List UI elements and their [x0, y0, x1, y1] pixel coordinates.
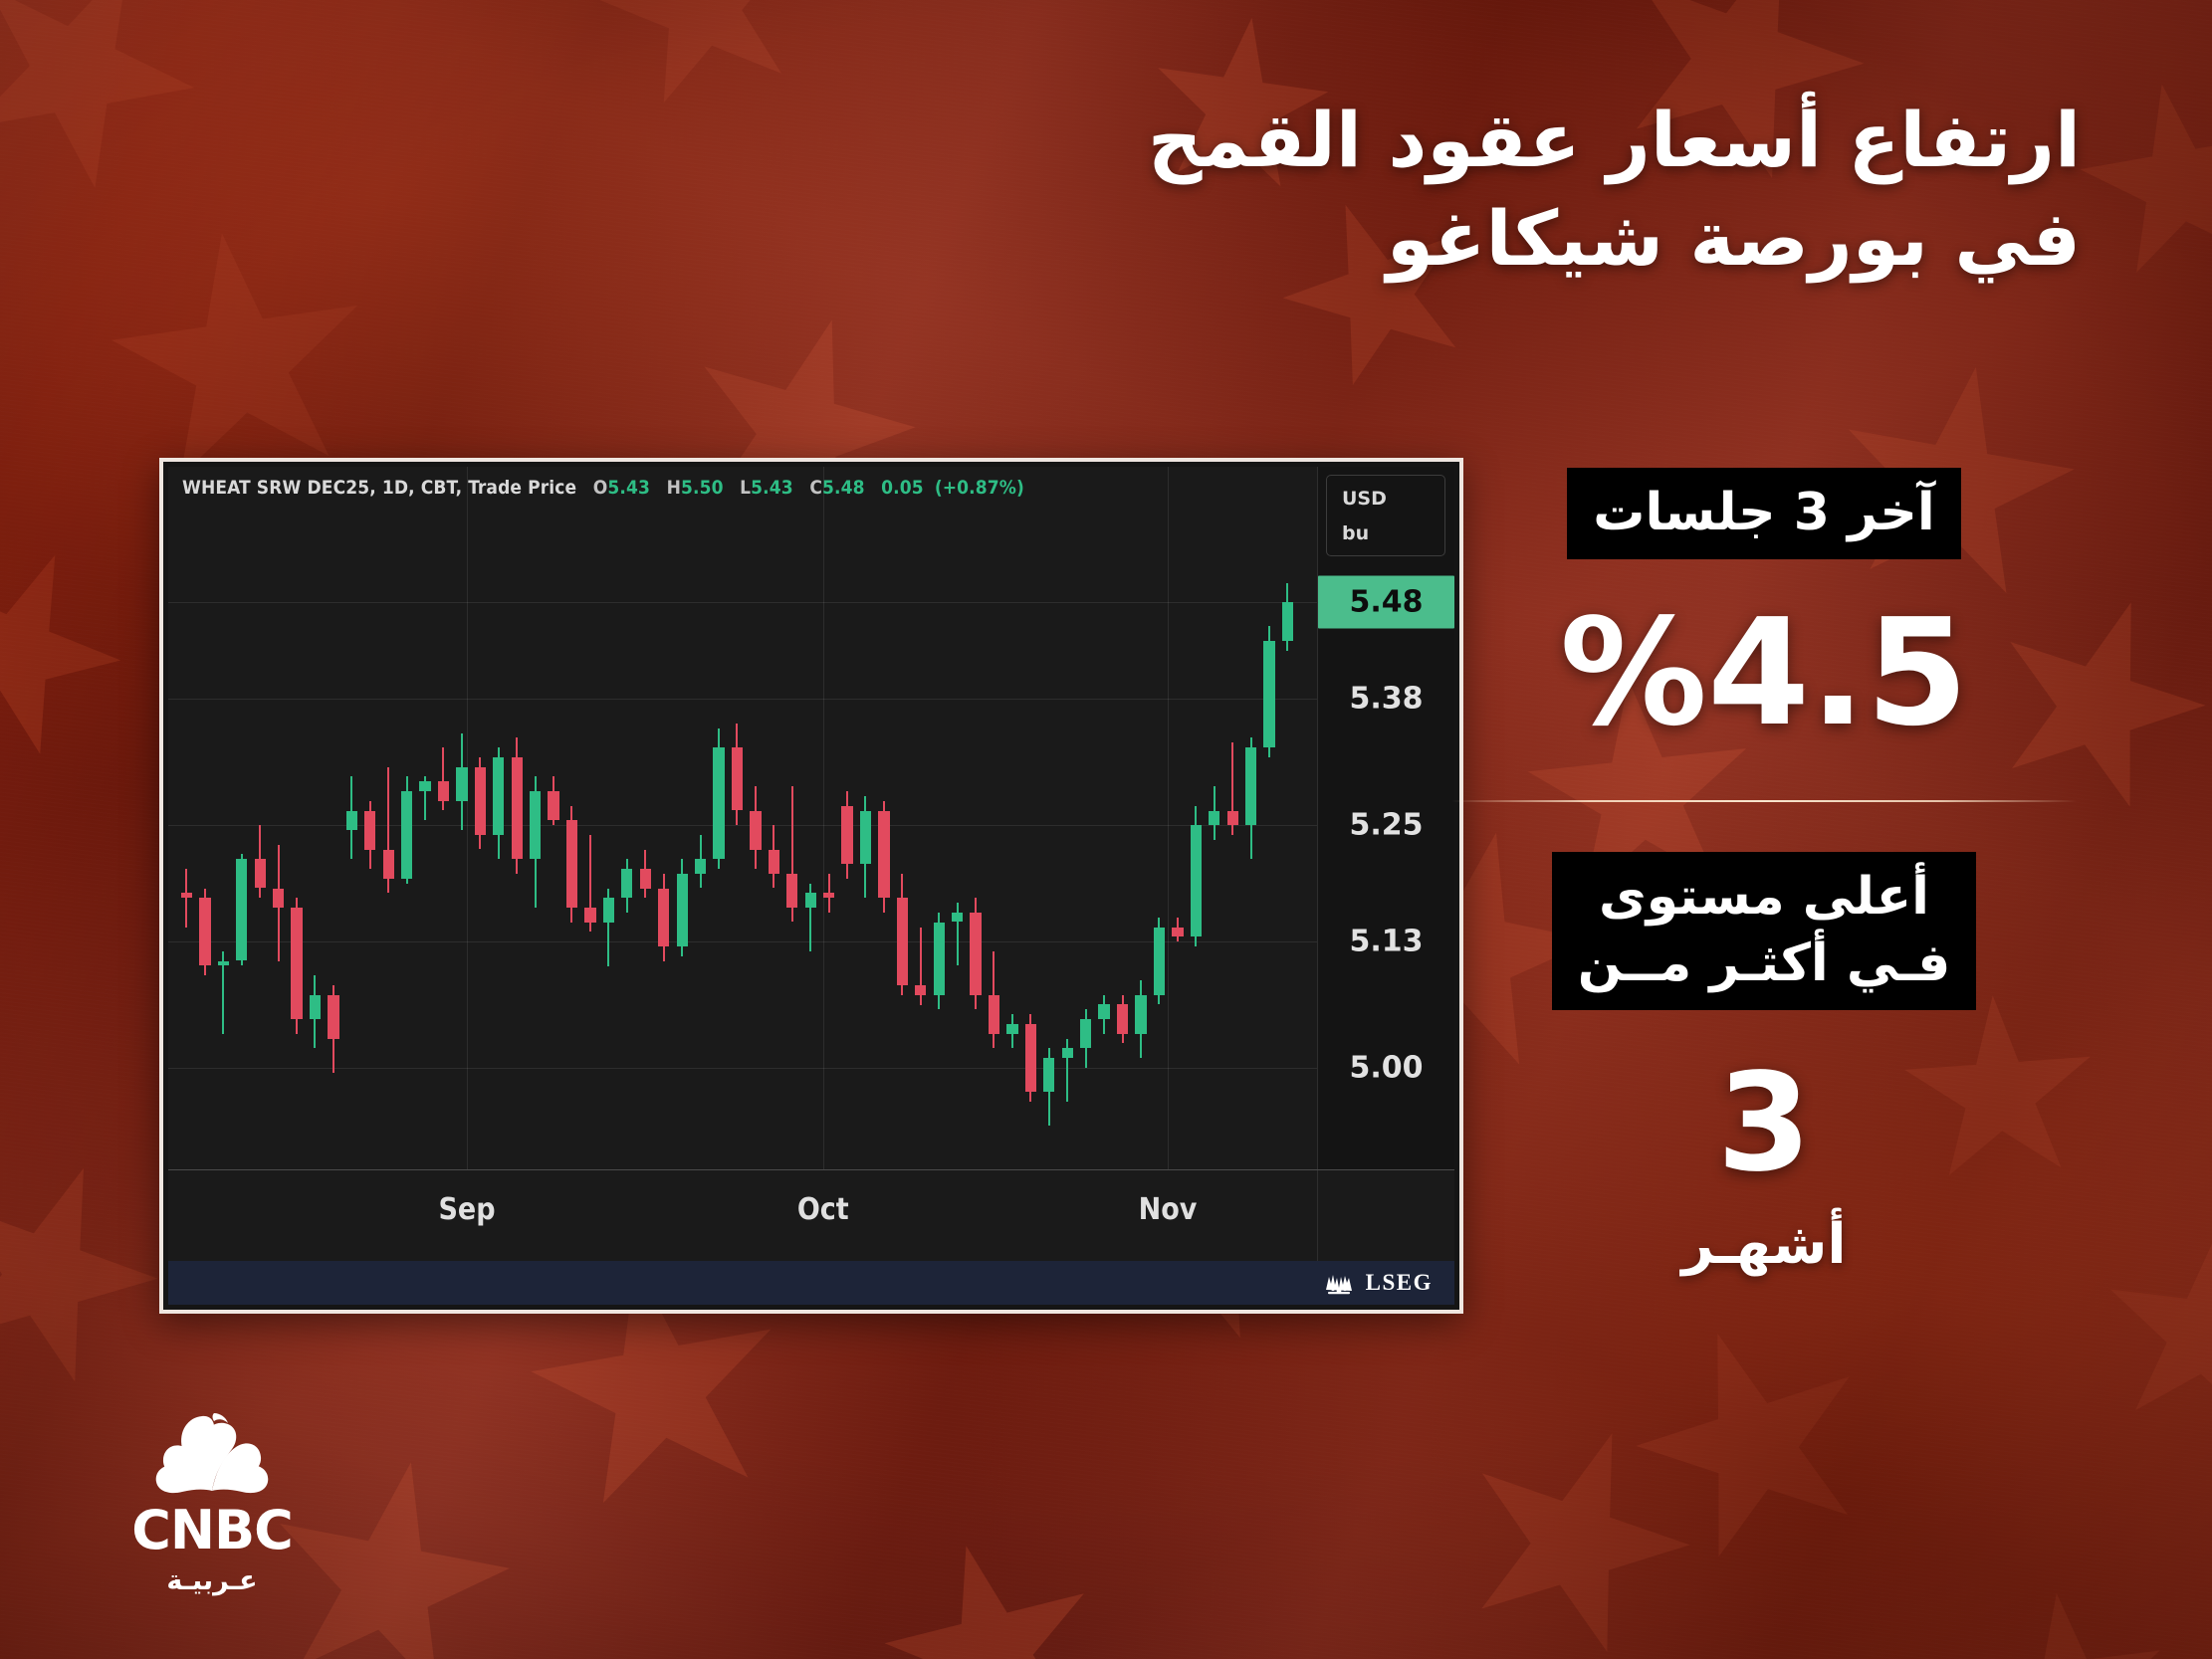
- candle-body: [750, 811, 761, 850]
- candlestick: [530, 467, 541, 1169]
- candle-body: [548, 791, 558, 820]
- stat-block-highest-level: أعلى مستوى فـي أكثـر مــن 3 أشهـر: [1445, 852, 2083, 1273]
- candlestick: [640, 467, 651, 1169]
- low-label: L: [740, 477, 751, 499]
- candlestick: [1062, 467, 1073, 1169]
- candlestick: [1245, 467, 1256, 1169]
- candlestick: [860, 467, 871, 1169]
- candle-body: [970, 913, 981, 995]
- close-label: C: [809, 477, 822, 499]
- candle-body: [383, 850, 394, 879]
- candlestick: [346, 467, 357, 1169]
- stat-sessions-tag: آخر 3 جلسات: [1567, 468, 1960, 559]
- candle-body: [1209, 811, 1219, 826]
- candlestick: [456, 467, 467, 1169]
- candle-body: [364, 811, 375, 850]
- candle-body: [456, 767, 467, 801]
- cnbc-arabia-logo: CNBC عـربيـة: [117, 1403, 307, 1596]
- candle-wick: [442, 747, 444, 810]
- candle-body: [328, 995, 338, 1039]
- candlestick: [1135, 467, 1146, 1169]
- candlestick: [621, 467, 632, 1169]
- candlestick: [769, 467, 779, 1169]
- candle-body: [786, 874, 797, 908]
- measure-label: bu: [1342, 522, 1444, 544]
- candlestick: [438, 467, 449, 1169]
- candlestick: [548, 467, 558, 1169]
- headline-line-1: ارتفاع أسعار عقود القمح: [886, 92, 2081, 190]
- candlestick: [255, 467, 266, 1169]
- candle-body: [401, 791, 412, 879]
- candlestick: [291, 467, 302, 1169]
- candle-body: [915, 985, 926, 995]
- candlestick: [181, 467, 192, 1169]
- candle-body: [878, 811, 889, 899]
- candlestick: [915, 467, 926, 1169]
- candle-body: [658, 889, 669, 947]
- candlestick: [475, 467, 486, 1169]
- candlestick: [713, 467, 724, 1169]
- candlestick: [1172, 467, 1183, 1169]
- candle-body: [255, 859, 266, 888]
- month-tick-label: Sep: [438, 1192, 495, 1227]
- candle-body: [181, 893, 192, 898]
- currency-label: USD: [1342, 488, 1444, 510]
- candle-body: [1006, 1024, 1017, 1034]
- month-tick-label: Oct: [797, 1192, 849, 1227]
- candle-body: [438, 781, 449, 801]
- candlestick: [566, 467, 577, 1169]
- candlestick: [383, 467, 394, 1169]
- candlestick: [199, 467, 210, 1169]
- candle-body: [199, 898, 210, 965]
- page-title: ارتفاع أسعار عقود القمح في بورصة شيكاغو: [886, 92, 2081, 289]
- candlestick: [658, 467, 669, 1169]
- candle-body: [1282, 602, 1293, 641]
- candle-body: [603, 898, 614, 922]
- time-axis: SepOctNov: [168, 1169, 1454, 1261]
- candle-body: [860, 811, 871, 865]
- price-tick-label: 5.38: [1318, 682, 1454, 717]
- candlestick: [1080, 467, 1091, 1169]
- candle-body: [273, 889, 284, 909]
- price-chart-panel: WHEAT SRW DEC25, 1D, CBT, Trade Price O5…: [159, 458, 1463, 1314]
- candle-body: [493, 757, 504, 835]
- stat-block-sessions: آخر 3 جلسات %4.5: [1445, 468, 2083, 746]
- candle-body: [310, 995, 321, 1019]
- candle-body: [218, 961, 229, 966]
- candlestick: [1025, 467, 1036, 1169]
- candlestick: [732, 467, 743, 1169]
- candle-body: [1245, 747, 1256, 825]
- time-axis-spacer: [1317, 1170, 1454, 1261]
- candlestick: [584, 467, 595, 1169]
- candlestick: [989, 467, 999, 1169]
- candle-body: [566, 820, 577, 908]
- candlestick: [401, 467, 412, 1169]
- candlestick: [1282, 467, 1293, 1169]
- candle-body: [1043, 1058, 1054, 1092]
- low-value: 5.43: [751, 477, 793, 499]
- candle-body: [584, 908, 595, 923]
- candle-body: [346, 811, 357, 831]
- candle-body: [236, 859, 247, 960]
- open-label: O: [593, 477, 608, 499]
- current-price-tag: 5.48: [1318, 576, 1454, 629]
- candlestick: [419, 467, 430, 1169]
- candle-body: [1135, 995, 1146, 1034]
- price-tick-label: 5.25: [1318, 808, 1454, 843]
- stat-sessions-value: %4.5: [1445, 599, 2083, 746]
- statistics-column: آخر 3 جلسات %4.5 أعلى مستوى فـي أكثـر مـ…: [1445, 468, 2083, 1273]
- candlestick: [750, 467, 761, 1169]
- candle-body: [677, 874, 688, 946]
- candlestick: [310, 467, 321, 1169]
- candle-body: [897, 898, 908, 985]
- chart-symbol-label: WHEAT SRW DEC25, 1D, CBT, Trade Price: [182, 477, 576, 499]
- candlestick: [493, 467, 504, 1169]
- cnbc-wordmark: CNBC: [117, 1499, 307, 1561]
- stats-divider: [1451, 800, 2077, 802]
- candlestick: [897, 467, 908, 1169]
- open-value: 5.43: [607, 477, 650, 499]
- candle-body: [640, 869, 651, 889]
- chart-header: WHEAT SRW DEC25, 1D, CBT, Trade Price O5…: [182, 477, 1024, 499]
- candlestick: [1154, 467, 1165, 1169]
- candle-body: [952, 913, 963, 923]
- cnbc-arabic-wordmark: عـربيـة: [117, 1565, 307, 1596]
- close-value: 5.48: [822, 477, 865, 499]
- change-value: 0.05: [881, 477, 924, 499]
- candlestick: [952, 467, 963, 1169]
- candlestick: [1043, 467, 1054, 1169]
- high-label: H: [667, 477, 681, 499]
- candle-body: [621, 869, 632, 898]
- candlestick: [934, 467, 945, 1169]
- candle-body: [769, 850, 779, 874]
- candlestick: [695, 467, 706, 1169]
- candlestick: [1263, 467, 1274, 1169]
- change-percent: (+0.87%): [935, 477, 1024, 499]
- candlestick: [273, 467, 284, 1169]
- candlestick: [1006, 467, 1017, 1169]
- candle-wick: [185, 869, 187, 928]
- lseg-logo-icon: [1322, 1270, 1356, 1296]
- candle-body: [512, 757, 523, 859]
- candle-body: [530, 791, 541, 859]
- candle-body: [1025, 1024, 1036, 1092]
- candle-body: [732, 747, 743, 810]
- candle-body: [1080, 1019, 1091, 1048]
- month-tick-label: Nov: [1139, 1192, 1198, 1227]
- candle-body: [1227, 811, 1238, 826]
- headline-line-2: في بورصة شيكاغو: [886, 190, 2081, 289]
- candle-body: [934, 923, 945, 995]
- candle-body: [419, 781, 430, 791]
- candlestick: [218, 467, 229, 1169]
- candlestick: [236, 467, 247, 1169]
- candle-body: [1062, 1048, 1073, 1058]
- price-tick-label: 5.00: [1318, 1050, 1454, 1085]
- stat-highest-unit: أشهـر: [1445, 1217, 2083, 1273]
- gridline-vertical: [1168, 467, 1169, 1169]
- candle-body: [1191, 825, 1202, 936]
- candlestick: [328, 467, 338, 1169]
- candle-body: [841, 806, 852, 865]
- price-unit-box: USD bu: [1326, 475, 1445, 556]
- stat-highest-tag-line-2: فـي أكثـر مــن: [1578, 931, 1951, 998]
- candlestick: [786, 467, 797, 1169]
- high-value: 5.50: [681, 477, 724, 499]
- stat-highest-tag-line-1: أعلى مستوى: [1578, 864, 1951, 932]
- candlestick: [970, 467, 981, 1169]
- candlestick: [603, 467, 614, 1169]
- peacock-icon: [146, 1403, 278, 1495]
- candlestick: [841, 467, 852, 1169]
- candlestick: [805, 467, 816, 1169]
- candle-body: [695, 859, 706, 874]
- candlestick: [1209, 467, 1219, 1169]
- candle-body: [1263, 641, 1274, 747]
- candle-body: [1172, 928, 1183, 937]
- candlestick: [823, 467, 834, 1169]
- candlestick: [878, 467, 889, 1169]
- chart-panel-inner: WHEAT SRW DEC25, 1D, CBT, Trade Price O5…: [168, 467, 1454, 1305]
- lseg-watermark-text: LSEG: [1366, 1270, 1433, 1296]
- stat-highest-tag: أعلى مستوى فـي أكثـر مــن: [1552, 852, 1977, 1010]
- candlestick-plot: [168, 467, 1317, 1169]
- candle-body: [805, 893, 816, 908]
- candlestick: [1098, 467, 1109, 1169]
- candle-body: [475, 767, 486, 835]
- candlestick: [677, 467, 688, 1169]
- candlestick: [1117, 467, 1128, 1169]
- stat-highest-number: 3: [1445, 1056, 2083, 1191]
- chart-footer: LSEG: [168, 1261, 1454, 1305]
- candlestick: [512, 467, 523, 1169]
- candle-body: [989, 995, 999, 1034]
- candlestick: [1191, 467, 1202, 1169]
- candle-body: [1154, 928, 1165, 995]
- candle-body: [1098, 1004, 1109, 1019]
- chart-body: WHEAT SRW DEC25, 1D, CBT, Trade Price O5…: [168, 467, 1454, 1169]
- candle-body: [1117, 1004, 1128, 1033]
- candlestick: [1227, 467, 1238, 1169]
- chart-plot-area: WHEAT SRW DEC25, 1D, CBT, Trade Price O5…: [168, 467, 1317, 1169]
- candle-body: [823, 893, 834, 898]
- price-axis: USD bu 5.485.385.255.135.00: [1317, 467, 1454, 1169]
- price-tick-label: 5.13: [1318, 925, 1454, 959]
- candle-body: [713, 747, 724, 859]
- candlestick: [364, 467, 375, 1169]
- candle-body: [291, 908, 302, 1019]
